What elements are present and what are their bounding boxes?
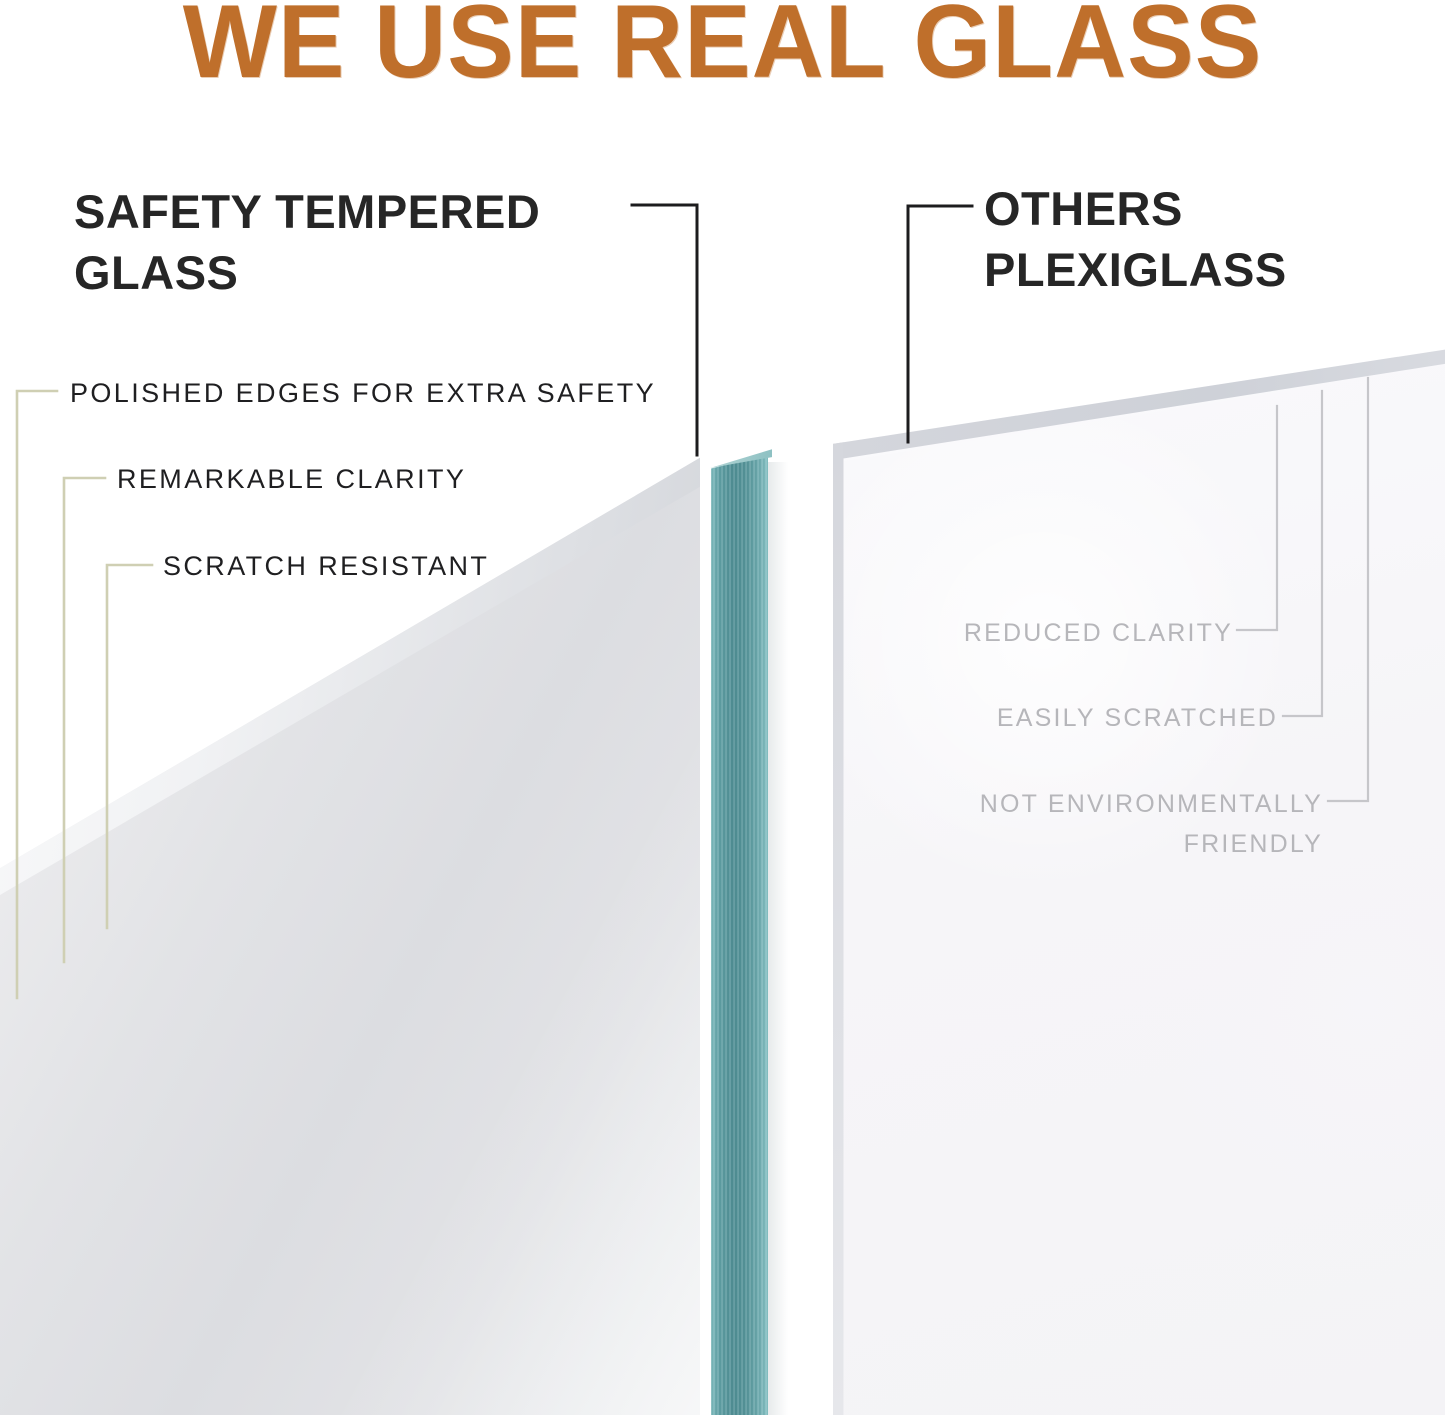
heading-safety-tempered-glass: SAFETY TEMPERED GLASS (74, 181, 674, 303)
tempered-glass-panel (0, 452, 780, 1415)
feature-label-remarkable-clarity: REMARKABLE CLARITY (117, 462, 466, 496)
plexiglass-panel (833, 336, 1445, 1415)
glass-sheen (0, 452, 780, 1415)
feature-label-scratch-resistant: SCRATCH RESISTANT (163, 549, 489, 583)
page-title: WE USE REAL GLASS (29, 0, 1416, 94)
con-label-not-environmentally-friendly: NOT ENVIRONMENTALLY FRIENDLY (980, 784, 1323, 864)
con-label-reduced-clarity: REDUCED CLARITY (964, 613, 1233, 653)
glass-polished-edge (710, 455, 768, 1415)
glass-edge-shadow (766, 462, 788, 1415)
heading-others-plexiglass: OTHERS PLEXIGLASS (984, 178, 1424, 300)
feature-label-polished-edges: POLISHED EDGES FOR EXTRA SAFETY (70, 376, 656, 410)
infographic-canvas: WE USE REAL GLASS SAFETY TEMPERED GLASS … (0, 0, 1445, 1415)
plexiglass-haze (833, 336, 1445, 1415)
con-label-easily-scratched: EASILY SCRATCHED (997, 698, 1278, 738)
